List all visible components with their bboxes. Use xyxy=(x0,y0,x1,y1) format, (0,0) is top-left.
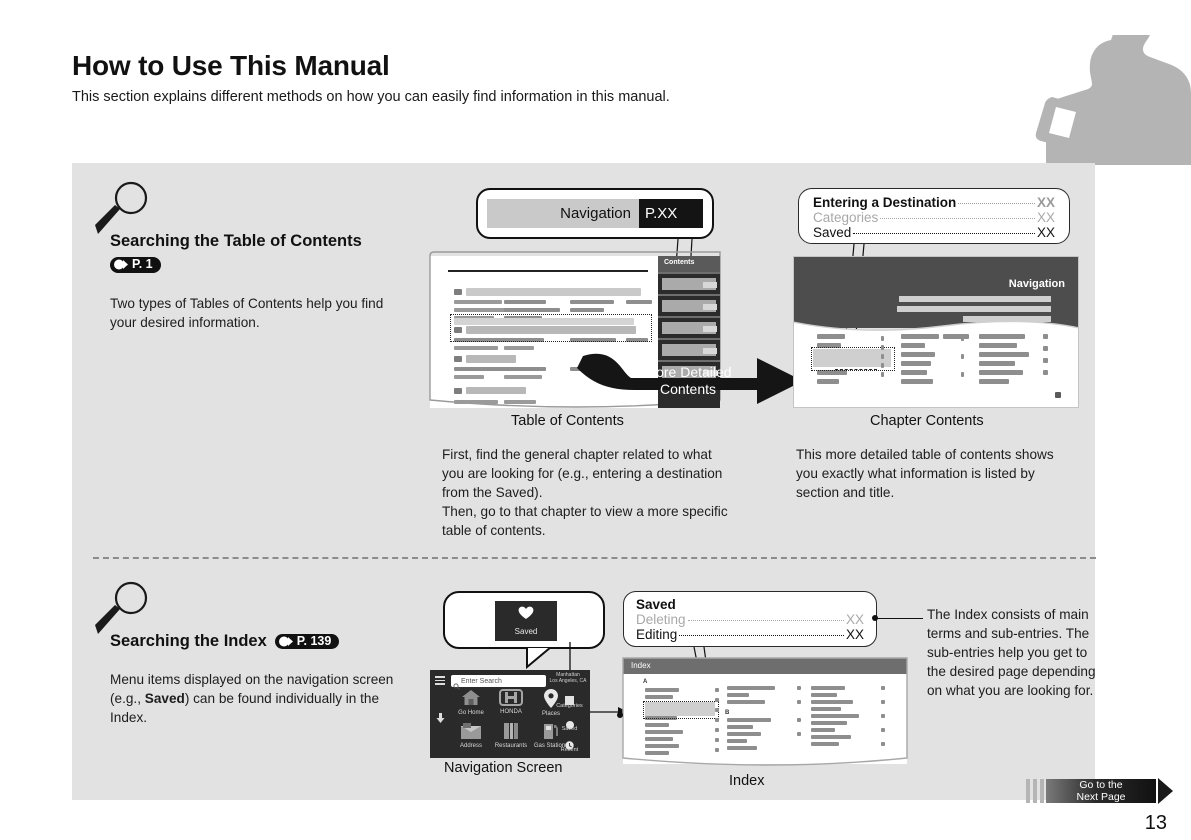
navigation-screen-figure: Enter Search Manhattan Los Angeles, CA G… xyxy=(430,670,590,758)
leader-dot-right xyxy=(872,615,878,621)
callout-entry-destination: Entering a Destination XX xyxy=(813,195,1055,210)
index-entries-callout: Saved Deleting XX Editing XX xyxy=(623,591,877,647)
callout-entry-categories: Categories XX xyxy=(813,210,1055,225)
entry-name: Editing xyxy=(636,627,677,642)
entry-name: Entering a Destination xyxy=(813,195,956,210)
entry-page: XX xyxy=(846,612,864,627)
caption-navigation-screen: Navigation Screen xyxy=(444,760,563,776)
down-arrow-icon[interactable] xyxy=(436,710,445,720)
search-input[interactable]: Enter Search xyxy=(451,675,546,687)
manual-page: How to Use This Manual This section expl… xyxy=(0,0,1191,840)
nav-tile-label: Go Home xyxy=(458,710,484,716)
nav-tile-label: Address xyxy=(460,743,482,749)
index-page-outline xyxy=(621,656,911,774)
page-ref-label: P. 139 xyxy=(297,635,332,648)
nav-right-label-categories: Categories xyxy=(551,703,588,709)
section-body-toc: Two types of Tables of Contents help you… xyxy=(110,294,400,332)
arrow-right-icon xyxy=(114,259,129,270)
callout-entry-index-title: Saved xyxy=(636,597,864,612)
entry-page: XX xyxy=(1037,210,1055,225)
banner-label: More Detailed Contents xyxy=(627,364,749,398)
section-heading-toc: Searching the Table of Contents xyxy=(110,232,362,251)
entry-name: Saved xyxy=(636,597,676,612)
section-divider xyxy=(93,557,1096,559)
nav-right-rail: Categories Saved Recent xyxy=(551,672,588,756)
body-toc-left: First, find the general chapter related … xyxy=(442,445,732,540)
entry-name: Saved xyxy=(813,225,851,240)
callout-entry-saved: Saved XX xyxy=(813,225,1055,240)
page-title: How to Use This Manual xyxy=(72,50,390,82)
entry-page: XX xyxy=(846,627,864,642)
magnifier-icon xyxy=(95,178,157,240)
next-page-arrow-icon xyxy=(1158,778,1173,804)
body-toc-right: This more detailed table of contents sho… xyxy=(796,445,1076,502)
entry-name: Deleting xyxy=(636,612,686,627)
body-index-right: The Index consists of main terms and sub… xyxy=(927,605,1097,700)
navigation-titlebar: Navigation P.XX xyxy=(487,199,703,228)
more-detailed-contents-banner: More Detailed Contents xyxy=(575,350,805,412)
magnifier-icon-index xyxy=(95,578,157,640)
entry-page: XX xyxy=(1037,225,1055,240)
nav-right-label-saved: Saved xyxy=(551,726,588,732)
menu-icon[interactable] xyxy=(435,676,445,685)
saved-tile[interactable]: Saved xyxy=(495,601,557,641)
leader-dots xyxy=(958,203,1035,204)
chapter-contents-figure: Navigation xyxy=(793,256,1079,408)
reader-illustration xyxy=(1016,35,1191,165)
next-page-label: Go to the Next Page xyxy=(1046,779,1156,803)
destination-callout: Entering a Destination XX Categories XX … xyxy=(798,188,1070,244)
go-to-next-page-button[interactable]: Go to the Next Page xyxy=(1026,778,1173,804)
page-ref-pill: P. 1 xyxy=(110,257,161,273)
callout-entry-editing: Editing XX xyxy=(636,627,864,642)
search-placeholder: Enter Search xyxy=(461,678,502,685)
section-heading-index: Searching the Index xyxy=(110,632,267,651)
page-ref-toc[interactable]: P. 1 xyxy=(110,257,161,276)
search-icon xyxy=(453,677,460,684)
leader-dots xyxy=(688,620,844,621)
caption-table-of-contents: Table of Contents xyxy=(511,413,624,429)
caption-index: Index xyxy=(729,773,764,789)
chapter-header-label: Navigation xyxy=(1009,278,1065,290)
next-page-line2: Next Page xyxy=(1046,792,1156,804)
entry-name: Categories xyxy=(813,210,878,225)
tab-label: Contents xyxy=(664,259,694,266)
balloon-tail xyxy=(525,647,555,669)
navigation-page-ref: P.XX xyxy=(639,199,703,228)
navigation-callout: Navigation P.XX xyxy=(476,188,714,239)
page-ref-label: P. 1 xyxy=(132,258,153,271)
section-body-index: Menu items displayed on the navigation s… xyxy=(110,670,400,727)
section-heading-index-row: Searching the Index P. 139 xyxy=(110,632,339,651)
arrow-right-icon xyxy=(279,636,294,647)
heart-icon xyxy=(518,606,534,624)
entry-page: XX xyxy=(1037,195,1055,210)
callout-entry-deleting: Deleting XX xyxy=(636,612,864,627)
saved-tile-label: Saved xyxy=(515,627,538,636)
leader-dots xyxy=(853,233,1035,234)
nav-tile-label: Restaurants xyxy=(495,743,527,749)
leader-dots xyxy=(679,635,844,636)
body-text-bold: Saved xyxy=(145,691,185,706)
page-ref-pill-index[interactable]: P. 139 xyxy=(275,634,340,650)
chapter-body xyxy=(793,332,1079,408)
nav-right-label-recent: Recent xyxy=(551,747,588,753)
leader-line-right xyxy=(877,618,923,619)
nav-tile-label: HONDA xyxy=(500,709,522,715)
page-number: 13 xyxy=(1145,812,1167,835)
index-marker-dot xyxy=(617,712,623,718)
caption-chapter-contents: Chapter Contents xyxy=(870,413,984,429)
page-subtitle: This section explains different methods … xyxy=(72,89,670,105)
page-bars-icon xyxy=(1026,779,1044,803)
leader-dots xyxy=(880,218,1035,219)
next-page-line1: Go to the xyxy=(1046,780,1156,792)
navigation-title: Navigation xyxy=(487,199,639,228)
